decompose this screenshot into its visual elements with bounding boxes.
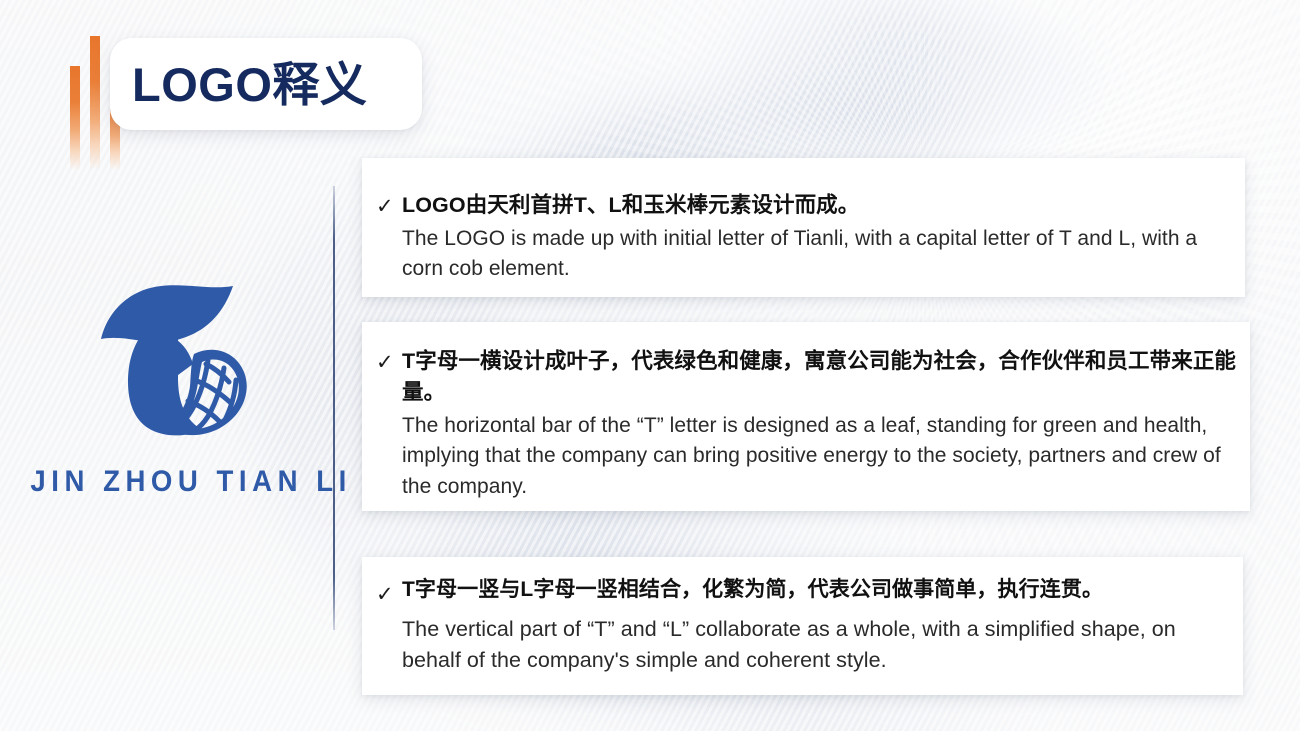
- card-3-text-en: The vertical part of “T” and “L” collabo…: [402, 614, 1231, 676]
- check-icon: ✓: [376, 190, 402, 221]
- card-2-text-en: The horizontal bar of the “T” letter is …: [402, 411, 1238, 502]
- orange-bar-1-fill: [70, 66, 80, 170]
- content-card-2: ✓ T字母一横设计成叶子，代表绿色和健康，寓意公司能为社会，合作伙伴和员工带来正…: [362, 322, 1250, 511]
- brand-name-latin: JIN ZHOU TIAN LI: [30, 465, 315, 499]
- orange-bar-2: [90, 36, 100, 170]
- orange-bar-1: [70, 66, 80, 170]
- card-1-text-cn: LOGO由天利首拼T、L和玉米棒元素设计而成。: [402, 190, 1233, 221]
- vertical-divider: [333, 186, 335, 630]
- card-1-body: LOGO由天利首拼T、L和玉米棒元素设计而成。 The LOGO is made…: [402, 190, 1233, 284]
- card-3-body: T字母一竖与L字母一竖相结合，化繁为简，代表公司做事简单，执行连贯。 The v…: [402, 575, 1231, 676]
- tianli-logo-icon: [98, 282, 258, 447]
- title-pill: LOGO释义: [110, 38, 422, 130]
- card-2-body: T字母一横设计成叶子，代表绿色和健康，寓意公司能为社会，合作伙伴和员工带来正能量…: [402, 346, 1238, 502]
- card-2-text-cn: T字母一横设计成叶子，代表绿色和健康，寓意公司能为社会，合作伙伴和员工带来正能量…: [402, 346, 1238, 407]
- page-title: LOGO释义: [132, 61, 367, 108]
- check-icon: ✓: [376, 575, 402, 609]
- check-icon: ✓: [376, 346, 402, 377]
- card-3-text-cn: T字母一竖与L字母一竖相结合，化繁为简，代表公司做事简单，执行连贯。: [402, 575, 1231, 605]
- card-1-text-en: The LOGO is made up with initial letter …: [402, 224, 1233, 284]
- orange-bar-2-fill: [90, 36, 100, 170]
- content-card-1: ✓ LOGO由天利首拼T、L和玉米棒元素设计而成。 The LOGO is ma…: [362, 158, 1245, 297]
- content-card-3: ✓ T字母一竖与L字母一竖相结合，化繁为简，代表公司做事简单，执行连贯。 The…: [362, 557, 1243, 695]
- slide-root: LOGO释义: [0, 0, 1300, 731]
